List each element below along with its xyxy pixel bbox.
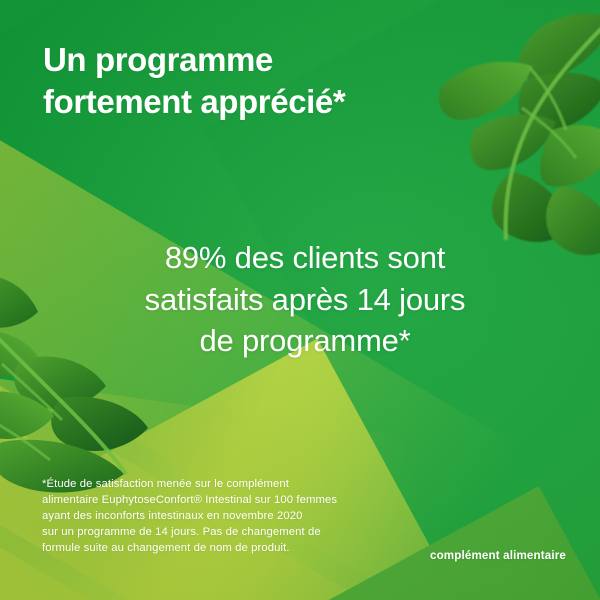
product-category-label: complément alimentaire — [430, 549, 566, 562]
footnote-line-5: formule suite au changement de nom de pr… — [42, 541, 387, 557]
footnote-line-4: sur un programme de 14 jours. Pas de cha… — [42, 525, 387, 541]
promotional-banner: Un programme fortement apprécié* 89% des… — [0, 0, 600, 600]
headline-line-1: Un programme — [43, 41, 273, 78]
claim-line-1: 89% des clients sont — [80, 237, 530, 279]
footnote-line-2: alimentaire EuphytoseConfort® Intestinal… — [42, 493, 387, 509]
claim-statement: 89% des clients sont satisfaits après 14… — [80, 237, 530, 362]
claim-line-2: satisfaits après 14 jours — [80, 279, 530, 321]
footnote-line-3: ayant des inconforts intestinaux en nove… — [42, 509, 387, 525]
headline: Un programme fortement apprécié* — [43, 39, 463, 122]
claim-line-3: de programme* — [80, 320, 530, 362]
headline-line-2: fortement apprécié* — [43, 81, 463, 123]
footnote-line-1: *Étude de satisfaction menée sur le comp… — [42, 477, 387, 493]
footnote: *Étude de satisfaction menée sur le comp… — [42, 477, 387, 557]
